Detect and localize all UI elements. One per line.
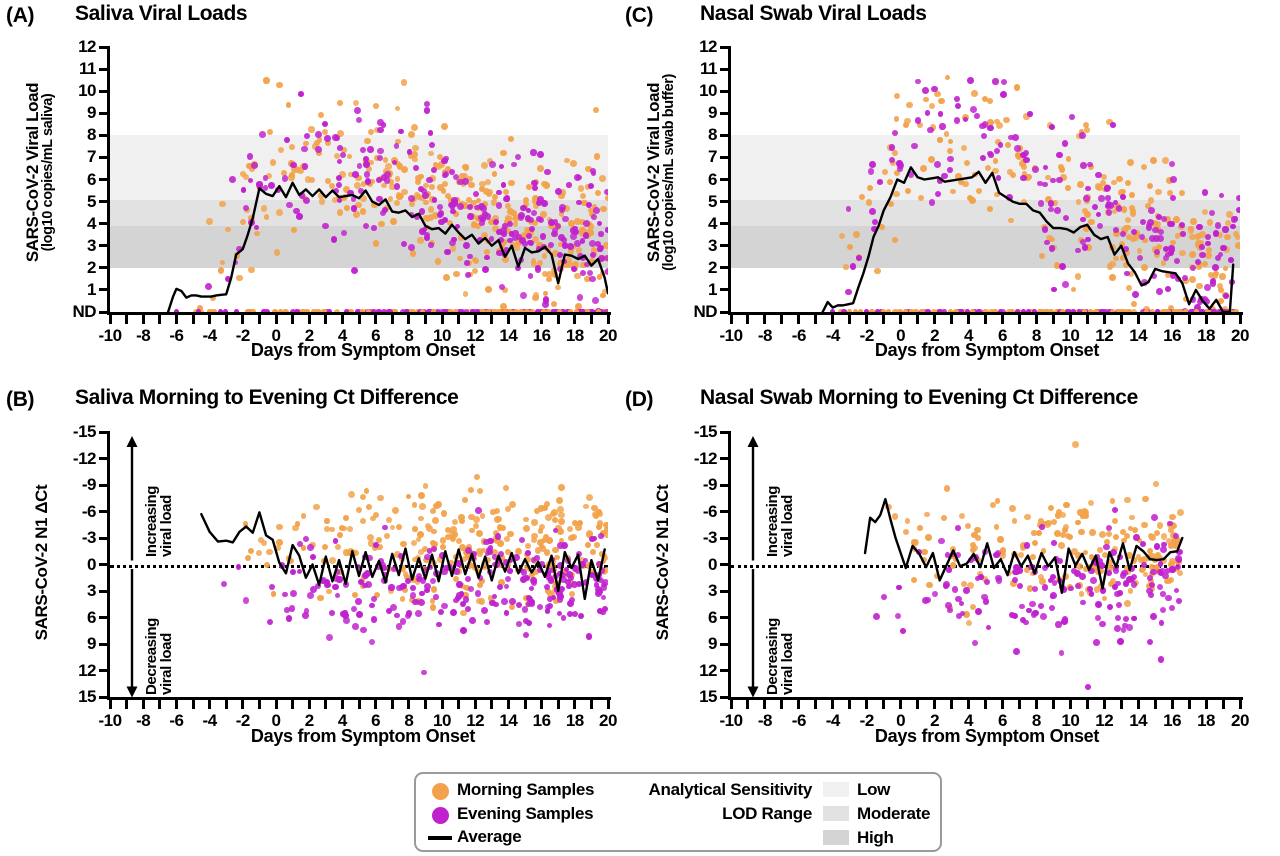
panel-letter-D: (D) (625, 388, 653, 412)
x-tick (1154, 700, 1157, 709)
x-tick (1052, 700, 1055, 709)
y-tick (720, 669, 729, 672)
y-tick (720, 431, 729, 434)
y-tick-label: 3 (655, 581, 717, 601)
y-tick (720, 616, 729, 619)
y-tick-label: 0 (655, 555, 717, 575)
legend-average-label: Average (457, 827, 521, 847)
x-tick (1069, 700, 1072, 709)
average-line-D (731, 432, 1240, 697)
x-tick (797, 700, 800, 709)
y-tick (720, 457, 729, 460)
legend-morning-label: Morning Samples (457, 780, 594, 800)
legend-swatch-high (823, 830, 849, 845)
increasing-viral-load-arrow-D (745, 436, 761, 561)
x-tick (916, 700, 919, 709)
y-tick (720, 643, 729, 646)
legend-swatch-low (823, 782, 849, 797)
legend-evening-label: Evening Samples (457, 804, 593, 824)
y-tick-label: 9 (655, 634, 717, 654)
y-tick (720, 484, 729, 487)
plot-area-D (731, 432, 1240, 697)
figure-root: (A)Saliva Viral LoadsSARS-CoV-2 Viral Lo… (0, 0, 1280, 856)
legend-morning-dot (432, 783, 449, 800)
increasing-viral-load-label-D: Increasingviral load (765, 485, 795, 556)
increasing-viral-load-label-D-line2: viral load (779, 495, 796, 557)
x-tick (848, 700, 851, 709)
legend-low-label: Low (857, 780, 890, 800)
x-tick (1222, 700, 1225, 709)
y-tick-label: -15 (655, 422, 717, 442)
y-tick-label: -6 (655, 502, 717, 522)
y-tick-label: -12 (655, 449, 717, 469)
x-tick-label: 20 (1214, 711, 1266, 731)
y-tick (720, 590, 729, 593)
plot-inner-D (731, 432, 1240, 697)
decreasing-viral-load-arrow-D (745, 569, 761, 698)
x-tick (1171, 700, 1174, 709)
legend-lod-label: LOD Range (616, 804, 812, 824)
y-tick-label: 15 (655, 687, 717, 707)
x-tick (831, 700, 834, 709)
figure-legend: Morning SamplesEvening SamplesAverageAna… (414, 772, 942, 852)
y-tick (720, 696, 729, 699)
x-tick (814, 700, 817, 709)
x-tick (1137, 700, 1140, 709)
y-tick-label: -9 (655, 475, 717, 495)
panel-D: (D)Nasal Swab Morning to Evening Ct Diff… (0, 0, 1280, 856)
legend-high-label: High (857, 828, 894, 848)
y-tick-label: 6 (655, 608, 717, 628)
decreasing-viral-load-label-D: Decreasingviral load (765, 618, 795, 695)
legend-average-line (428, 836, 452, 840)
x-tick (780, 700, 783, 709)
x-tick (899, 700, 902, 709)
y-tick (720, 563, 729, 566)
legend-moderate-label: Moderate (857, 804, 930, 824)
panel-title-D: Nasal Swab Morning to Evening Ct Differe… (700, 386, 1138, 410)
x-tick (967, 700, 970, 709)
decreasing-viral-load-label-D-line2: viral load (779, 633, 796, 695)
y-tick (720, 537, 729, 540)
x-tick (984, 700, 987, 709)
x-tick (933, 700, 936, 709)
x-tick (1001, 700, 1004, 709)
legend-sensitivity-label: Analytical Sensitivity (616, 780, 812, 800)
x-tick (1103, 700, 1106, 709)
x-tick (1188, 700, 1191, 709)
x-tick (1086, 700, 1089, 709)
x-tick (730, 700, 733, 709)
x-tick (1035, 700, 1038, 709)
legend-swatch-moderate (823, 806, 849, 821)
x-tick (1120, 700, 1123, 709)
x-tick (1018, 700, 1021, 709)
x-tick (1205, 700, 1208, 709)
y-tick-label: -3 (655, 528, 717, 548)
legend-evening-dot (432, 807, 449, 824)
x-tick (746, 700, 749, 709)
y-tick-label: 12 (655, 661, 717, 681)
y-tick (720, 510, 729, 513)
x-tick (865, 700, 868, 709)
x-tick (882, 700, 885, 709)
x-tick (763, 700, 766, 709)
x-tick (950, 700, 953, 709)
x-tick (1239, 700, 1242, 709)
